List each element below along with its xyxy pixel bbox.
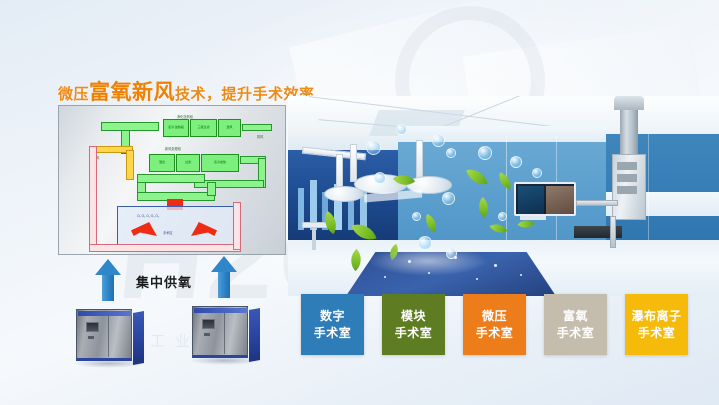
- diagram-return-left-riser: [89, 146, 97, 250]
- oxygen-bubble-7: [532, 168, 542, 178]
- photo-pendant-arm-1: [576, 200, 618, 206]
- diagram-exhaust-duct: [242, 124, 272, 131]
- photo-pendant-button-3: [617, 186, 637, 194]
- oxygen-bubble-3: [432, 134, 445, 147]
- category-line-1: 微压: [482, 308, 507, 324]
- diagram-top-box-0: 表冷 加热段: [163, 119, 189, 137]
- page-title: 微压富氧新风技术，提升手术效率: [58, 76, 315, 106]
- diagram-supply-plenum-top: [137, 174, 205, 183]
- oxygen-bubble-1: [366, 140, 381, 155]
- photo-monitor-screen-left: [518, 186, 544, 216]
- sparkle-4: [476, 278, 478, 280]
- sparkle-5: [494, 264, 497, 267]
- oxygen-generator-right: [192, 306, 260, 358]
- arrow-shaft: [102, 273, 114, 301]
- category-line-2: 手术室: [557, 325, 595, 341]
- oxygen-bubble-12: [412, 212, 421, 221]
- photo-lamp-post-3: [416, 140, 423, 180]
- machine-control-panel: [86, 322, 99, 332]
- photo-wall-monitor: [514, 182, 576, 216]
- diagram-return-bottom-duct: [89, 244, 241, 252]
- machine-top-cap: [194, 308, 248, 313]
- title-highlight: 富氧新风: [89, 81, 175, 104]
- category-line-2: 手术室: [476, 325, 514, 341]
- diagram-mid-row-label: 新风处理段: [165, 146, 181, 151]
- diagram-return-right-riser: [233, 202, 241, 250]
- category-line-1: 模块: [401, 308, 426, 324]
- photo-monitor-screen-right: [546, 186, 576, 216]
- diagram-room-label: 手术区: [163, 230, 173, 235]
- oxygen-bubble-8: [374, 172, 386, 184]
- sparkle-7: [384, 276, 386, 278]
- machine-door-seam: [224, 313, 225, 354]
- oxygen-bubble-9: [442, 192, 455, 205]
- category-line-1: 富氧: [563, 308, 588, 324]
- oxygen-bubble-2: [396, 124, 407, 135]
- photo-wall-seam-3: [648, 134, 649, 246]
- photo-pendant-cap: [614, 96, 644, 110]
- category-box-cascade-ion-or[interactable]: 瀑布离子 手术室: [625, 294, 688, 355]
- diagram-fresh-air-riser: [126, 150, 134, 180]
- category-box-modular-or[interactable]: 模块 手术室: [382, 294, 445, 355]
- category-box-micro-pressure-or[interactable]: 微压 手术室: [463, 294, 526, 355]
- slide-canvas: H2O 工业科技 微压富氧新风技术，提升手术效率 净化送风段 表冷 加热段 三级…: [0, 0, 719, 405]
- machine-body: [192, 306, 248, 358]
- diagram-top-box-2: 送风: [218, 119, 241, 137]
- machine-body: [76, 309, 132, 361]
- centralized-oxygen-supply-label: 集中供氧: [136, 272, 192, 291]
- photo-stool-post: [312, 228, 316, 250]
- hvac-schematic-panel: 净化送风段 表冷 加热段 三级过滤 送风 排风 新风 新风处理段 混合 过滤 表…: [58, 105, 286, 255]
- photo-pendant-arm-2: [610, 216, 616, 248]
- machine-indicator: [88, 336, 94, 339]
- machine-top-cap: [78, 311, 132, 316]
- category-line-2: 手术室: [395, 325, 433, 341]
- category-line-2: 手术室: [314, 325, 352, 341]
- diagram-supply-plenum-right: [207, 182, 216, 196]
- diagram-mid-box-1: 过滤: [176, 154, 200, 172]
- operating-room-photo: [288, 96, 719, 296]
- title-prefix: 微压: [58, 86, 89, 103]
- arrow-shaft: [218, 270, 230, 298]
- category-box-oxygen-rich-or[interactable]: 富氧 手术室: [544, 294, 607, 355]
- oxygen-bubble-5: [478, 146, 492, 160]
- oxygen-bubble-6: [510, 156, 522, 168]
- category-box-digital-or[interactable]: 数字 手术室: [301, 294, 364, 355]
- category-line-1: 瀑布离子: [631, 308, 681, 324]
- photo-floor-glow: [368, 246, 488, 276]
- oxygen-bubble-4: [446, 148, 456, 158]
- category-line-2: 手术室: [638, 325, 676, 341]
- diagram-duct-top-left: [101, 122, 159, 131]
- machine-control-panel: [202, 319, 215, 329]
- arrow-head-icon: [211, 256, 237, 272]
- diagram-room-gas-label: O₂ O₂ O₂ O₂ O₂: [137, 214, 159, 218]
- machine-side-panel: [133, 311, 144, 365]
- oxygen-bubble-13: [498, 212, 507, 221]
- oxygen-flow-arrow-left: [95, 259, 121, 301]
- arrow-head-icon: [95, 259, 121, 275]
- machine-indicator: [204, 333, 210, 336]
- diagram-top-box-1: 三级过滤: [190, 119, 217, 137]
- photo-pendant-button-2: [617, 174, 637, 182]
- machine-door-seam: [108, 316, 109, 357]
- sparkle-6: [520, 274, 522, 276]
- diagram-mid-box-0: 混合: [149, 154, 175, 172]
- photo-wall-band-top: [398, 126, 608, 142]
- oxygen-generator-left: [76, 309, 144, 361]
- machine-side-panel: [249, 308, 260, 362]
- oxygen-flow-arrow-right: [211, 256, 237, 298]
- diagram-mid-box-2: 表冷加热: [201, 154, 239, 172]
- category-line-1: 数字: [320, 308, 345, 324]
- photo-pendant-button-1: [617, 162, 637, 170]
- photo-lamp-post-2: [350, 144, 357, 182]
- diagram-exhaust-label: 排风: [257, 134, 263, 139]
